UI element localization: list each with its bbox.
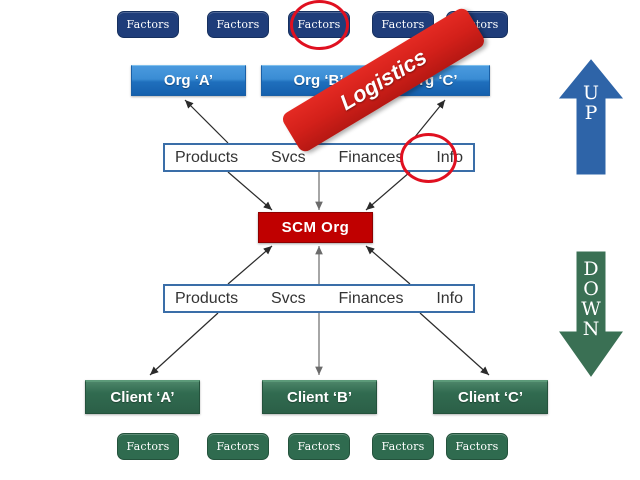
scm-org-label: SCM Org — [282, 219, 350, 236]
factors-chip-bottom-3[interactable]: Factors — [288, 433, 350, 460]
client-label: Client ‘A’ — [110, 389, 174, 406]
annotation-circle-info — [400, 133, 457, 183]
arrows-lowerbar-to-scm — [228, 246, 410, 284]
annotation-circle-top-factors — [290, 0, 349, 50]
client-label: Client ‘C’ — [458, 389, 523, 406]
down-letter-1: D — [583, 260, 598, 280]
arrows-lowerbar-to-clients — [150, 313, 489, 375]
diagram-canvas: Factors Factors Factors Factors Factors … — [0, 0, 640, 480]
logistics-label: Logistics — [335, 44, 431, 116]
org-label: Org ‘A’ — [164, 72, 213, 89]
factors-chip-bottom-1[interactable]: Factors — [117, 433, 179, 460]
up-letter-1: U — [583, 84, 599, 104]
factors-label: Factors — [382, 18, 425, 31]
factors-label: Factors — [127, 18, 170, 31]
factors-label: Factors — [217, 18, 260, 31]
down-letter-2: O — [583, 280, 599, 300]
client-box-b[interactable]: Client ‘B’ — [262, 380, 377, 414]
factors-label: Factors — [217, 440, 260, 453]
down-letter-3: W — [581, 300, 601, 320]
org-box-a[interactable]: Org ‘A’ — [131, 65, 246, 96]
client-box-c[interactable]: Client ‘C’ — [433, 380, 548, 414]
factors-label: Factors — [127, 440, 170, 453]
up-arrow-letters: U P — [583, 84, 599, 124]
factors-chip-bottom-2[interactable]: Factors — [207, 433, 269, 460]
attr-finances: Finances — [339, 149, 404, 167]
attr-svcs: Svcs — [271, 149, 306, 167]
factors-label: Factors — [298, 440, 341, 453]
arrows-bar-to-scm — [228, 172, 410, 210]
factors-label: Factors — [456, 440, 499, 453]
scm-org-box[interactable]: SCM Org — [258, 212, 373, 243]
attr-info: Info — [436, 290, 463, 308]
factors-chip-bottom-4[interactable]: Factors — [372, 433, 434, 460]
up-arrow-icon[interactable]: U P — [558, 58, 624, 176]
attr-finances: Finances — [339, 290, 404, 308]
client-box-a[interactable]: Client ‘A’ — [85, 380, 200, 414]
factors-chip-top-1[interactable]: Factors — [117, 11, 179, 38]
client-label: Client ‘B’ — [287, 389, 352, 406]
lower-attribute-bar[interactable]: Products Svcs Finances Info — [163, 284, 475, 313]
factors-chip-bottom-5[interactable]: Factors — [446, 433, 508, 460]
factors-chip-top-2[interactable]: Factors — [207, 11, 269, 38]
attr-svcs: Svcs — [271, 290, 306, 308]
up-letter-2: P — [585, 104, 598, 124]
down-arrow-icon[interactable]: D O W N — [558, 250, 624, 378]
attr-products: Products — [175, 290, 238, 308]
down-letter-4: N — [583, 320, 600, 340]
down-arrow-letters: D O W N — [581, 260, 601, 340]
attr-products: Products — [175, 149, 238, 167]
factors-label: Factors — [382, 440, 425, 453]
